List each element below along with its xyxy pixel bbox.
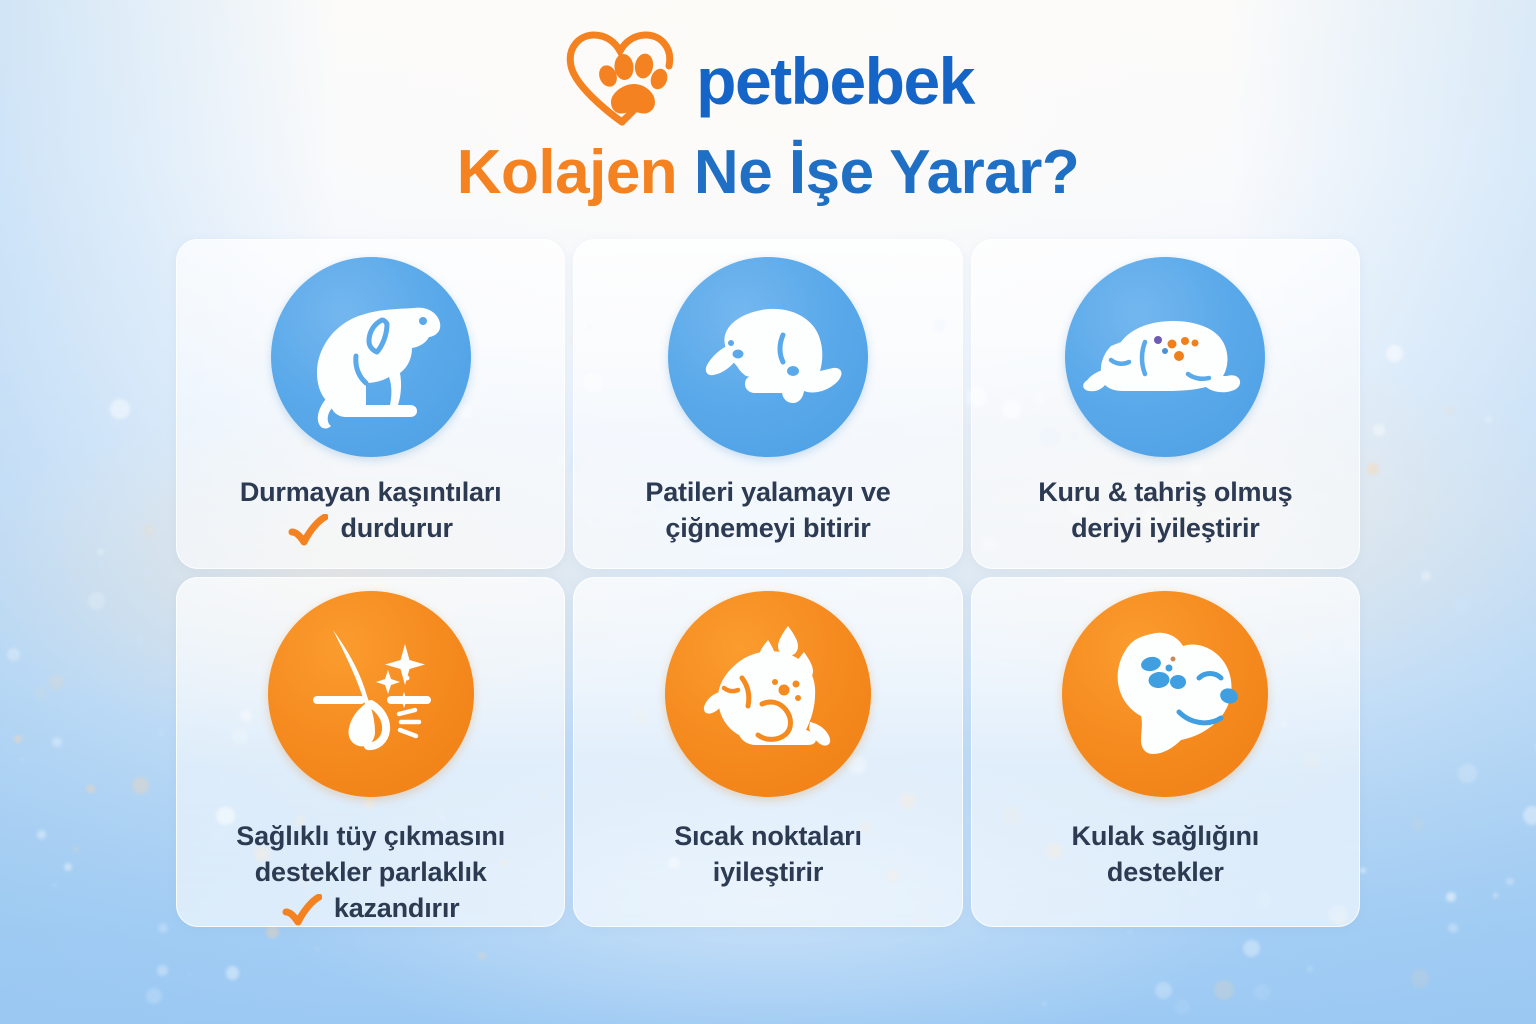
card-caption: Kulak sağlığını destekler [1054,819,1278,891]
caption-line: destekler parlaklık [255,857,487,887]
hair-follicle-shine-icon [285,608,457,780]
icon-badge [1062,591,1268,797]
icon-badge [1065,257,1265,457]
caption-line: Kulak sağlığını [1072,821,1260,851]
benefit-card[interactable]: Sıcak noktaları iyileştirir [573,577,962,927]
infographic-poster: petbebek Kolajen Ne İşe Yarar? [0,0,1536,1024]
benefit-card[interactable]: Kuru & tahriş olmuş deriyi iyileştirir [971,239,1360,569]
dog-sitting-scratching-icon [286,272,456,442]
card-caption: Patileri yalamayı ve çiğnemeyi bitirir [627,475,908,547]
benefit-card[interactable]: Kulak sağlığını destekler [971,577,1360,927]
benefit-card-grid: Durmayan kaşıntıları durdurur [176,239,1360,927]
benefit-card[interactable]: Durmayan kaşıntıları durdurur [176,239,565,569]
caption-line: deriyi iyileştirir [1071,513,1260,543]
check-icon [282,894,322,927]
dog-hotspot-droplets-icon [682,608,854,780]
benefit-card[interactable]: Patileri yalamayı ve çiğnemeyi bitirir [573,239,962,569]
card-caption: Sağlıklı tüy çıkmasını destekler parlakl… [218,819,523,927]
caption-line: Durmayan kaşıntıları [240,477,502,507]
card-caption: Kuru & tahriş olmuş deriyi iyileştirir [1020,475,1310,547]
poster-header: petbebek Kolajen Ne İşe Yarar? [0,26,1536,205]
caption-line: çiğnemeyi bitirir [665,513,870,543]
icon-badge [268,591,474,797]
card-caption: Durmayan kaşıntıları durdurur [222,475,520,558]
dog-head-ear-health-icon [1079,608,1251,780]
dog-lying-irritated-skin-icon [1075,272,1255,442]
icon-badge [665,591,871,797]
caption-line: destekler [1107,857,1224,887]
brand-name: petbebek [696,48,974,114]
dog-licking-paw-icon [683,272,853,442]
caption-line-with-check: kazandırır [282,891,460,927]
caption-line-with-check: durdurur [288,511,452,547]
caption-line: kazandırır [334,891,460,927]
page-title: Kolajen Ne İşe Yarar? [0,140,1536,205]
page-title-part-orange: Kolajen [457,138,677,207]
check-icon [288,514,328,548]
page-title-part-blue: Ne İşe Yarar? [694,138,1079,207]
card-caption: Sıcak noktaları iyileştirir [656,819,880,891]
caption-line: Patileri yalamayı ve [645,477,890,507]
caption-line: iyileştirir [713,857,823,887]
brand-lockup: petbebek [0,26,1536,130]
caption-line: Sağlıklı tüy çıkmasını [236,821,505,851]
caption-line: durdurur [340,511,452,547]
heart-paw-icon [562,28,680,128]
benefit-card[interactable]: Sağlıklı tüy çıkmasını destekler parlakl… [176,577,565,927]
caption-line: Kuru & tahriş olmuş [1038,477,1292,507]
icon-badge [668,257,868,457]
caption-line: Sıcak noktaları [674,821,862,851]
icon-badge [271,257,471,457]
